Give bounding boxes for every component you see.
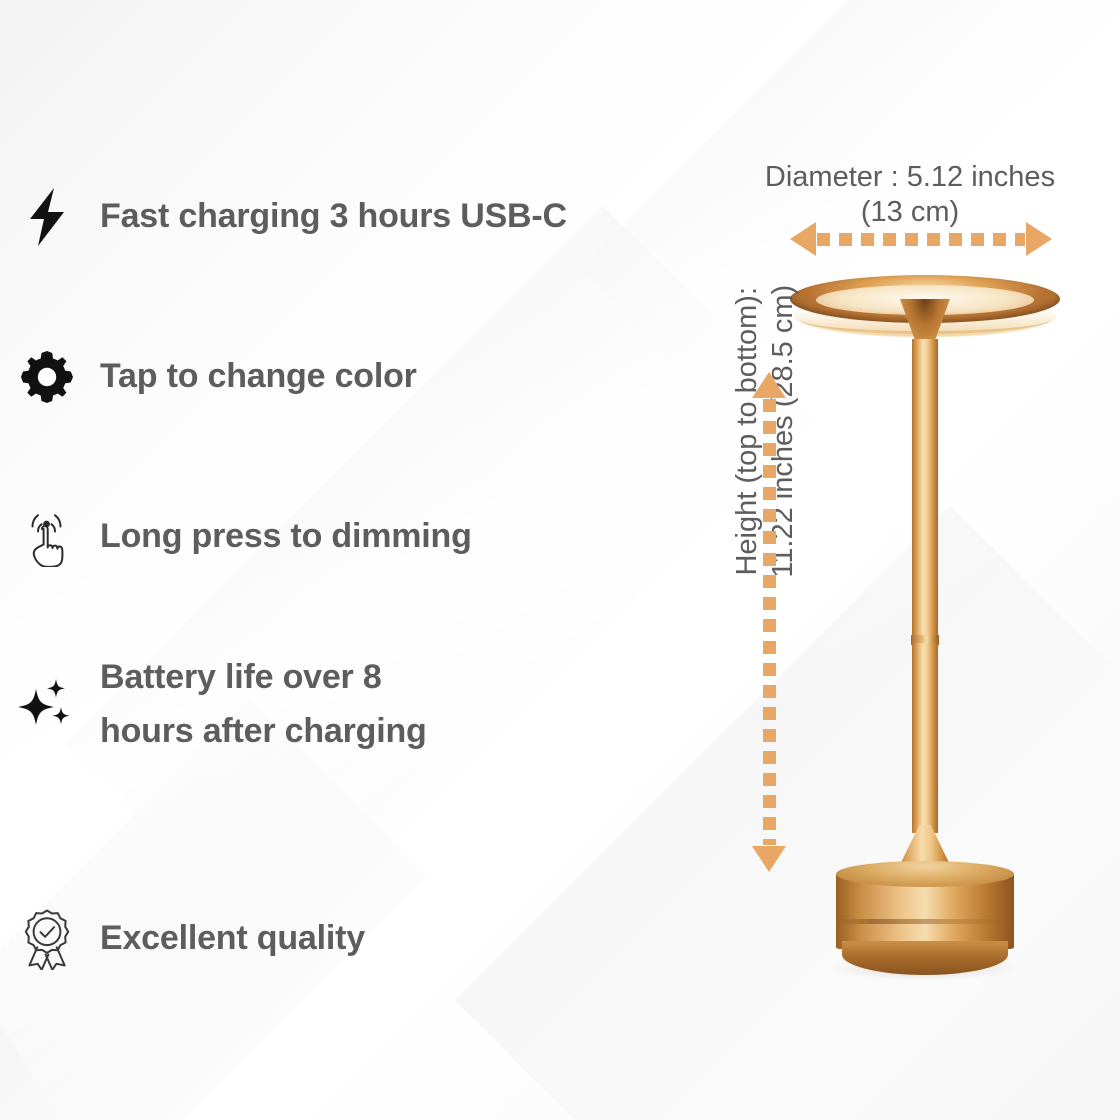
dashed-line-horizontal	[817, 233, 1025, 246]
feature-item-battery-life: Battery life over 8 hours after charging	[16, 650, 427, 759]
lamp-stem-lower	[912, 643, 938, 833]
feature-item-tap-to-change-color: Tap to change color	[16, 346, 417, 408]
feature-label: Battery life over 8 hours after charging	[100, 650, 427, 759]
sparkles-icon	[16, 673, 78, 735]
feature-list: Fast charging 3 hours USB-C Tap to chang…	[0, 0, 700, 1120]
lamp-base-top	[836, 861, 1014, 887]
arrow-right-head-icon	[1026, 222, 1052, 256]
arrow-down-head-icon	[752, 846, 786, 872]
dashed-line-vertical	[763, 399, 776, 845]
feature-label: Fast charging 3 hours USB-C	[100, 195, 567, 239]
feature-label: Long press to dimming	[100, 515, 472, 559]
feature-item-fast-charging: Fast charging 3 hours USB-C	[16, 186, 567, 248]
feature-item-long-press-dimming: Long press to dimming	[16, 506, 472, 568]
height-arrow	[752, 372, 786, 872]
product-infographic: Fast charging 3 hours USB-C Tap to chang…	[0, 0, 1120, 1120]
product-image-lamp	[760, 255, 1120, 945]
lamp-stem-upper	[912, 339, 938, 639]
gear-icon	[16, 346, 78, 408]
lamp-base-groove	[836, 919, 1014, 924]
lightning-bolt-icon	[16, 186, 78, 248]
feature-label: Tap to change color	[100, 355, 417, 399]
tap-hand-icon	[16, 506, 78, 568]
feature-label: Excellent quality	[100, 917, 365, 961]
diameter-arrow	[790, 222, 1052, 256]
feature-item-excellent-quality: Excellent quality	[16, 908, 365, 970]
arrow-up-head-icon	[752, 372, 786, 398]
award-ribbon-icon	[16, 908, 78, 970]
